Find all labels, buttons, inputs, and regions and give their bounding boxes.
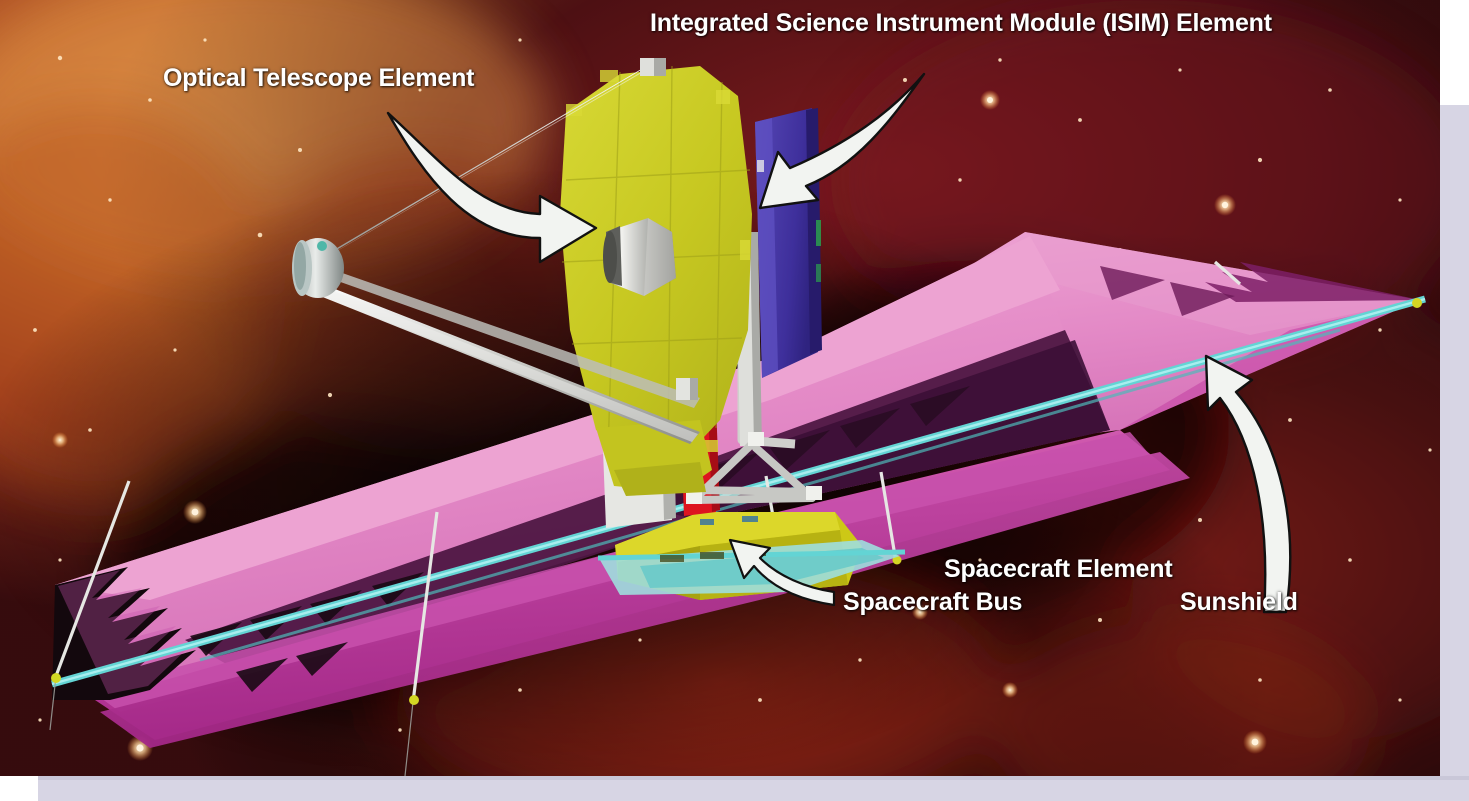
backing-panel-bottom-edge <box>38 776 1469 780</box>
label-isim-element: Integrated Science Instrument Module (IS… <box>650 9 1272 38</box>
isim-radiator-panel <box>755 108 822 378</box>
jwst-illustration <box>0 0 1440 776</box>
figure-canvas: Integrated Science Instrument Module (IS… <box>0 0 1469 801</box>
label-sunshield: Sunshield <box>1180 588 1298 617</box>
label-optical-telescope-element: Optical Telescope Element <box>163 64 474 93</box>
label-spacecraft-element: Spacecraft Element <box>944 555 1172 584</box>
label-spacecraft-bus: Spacecraft Bus <box>843 588 1022 617</box>
